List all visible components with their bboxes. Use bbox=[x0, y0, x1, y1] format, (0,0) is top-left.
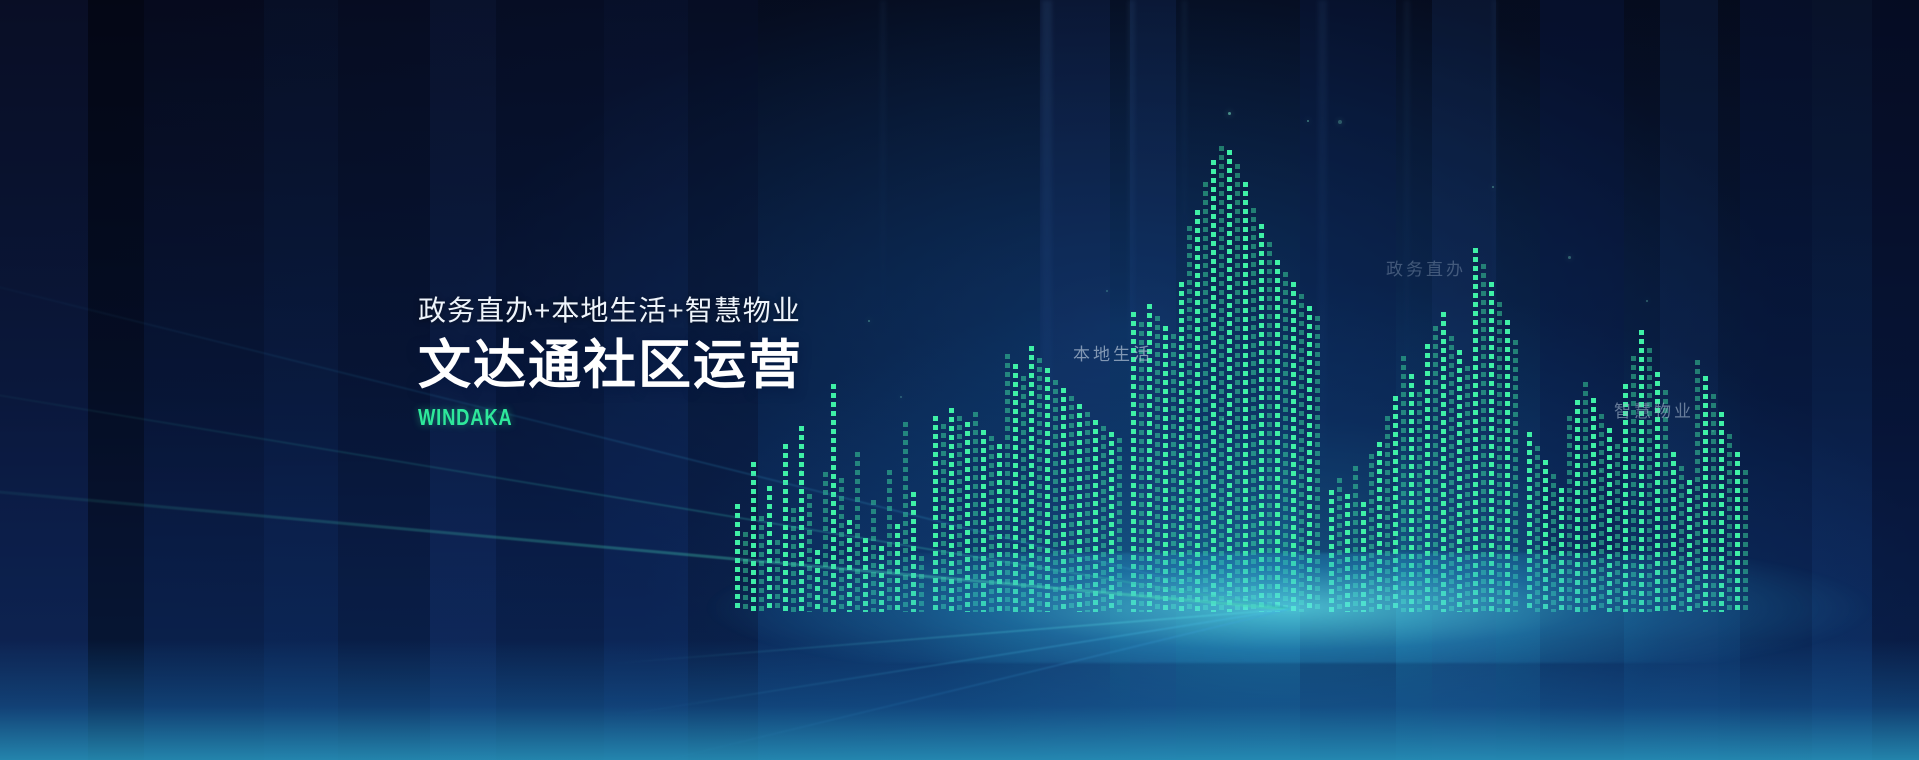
skyline-column bbox=[1109, 432, 1114, 612]
skyline-column bbox=[1527, 432, 1532, 612]
skyline-column bbox=[1235, 164, 1240, 612]
skyline-column bbox=[1337, 478, 1342, 612]
skyline-column bbox=[1307, 306, 1312, 612]
stripe-band bbox=[1872, 0, 1919, 760]
sparkle-dot bbox=[1106, 290, 1108, 292]
light-pillar bbox=[1128, 0, 1135, 470]
stripe-band bbox=[1432, 0, 1496, 760]
skyline-column bbox=[1703, 376, 1708, 612]
skyline-column bbox=[1497, 302, 1502, 612]
skyline-column bbox=[1735, 452, 1740, 612]
skyline-column bbox=[997, 444, 1002, 612]
skyline-column bbox=[1489, 282, 1494, 612]
skyline-column bbox=[1567, 416, 1572, 612]
skyline-column bbox=[1639, 330, 1644, 612]
skyline-column bbox=[815, 550, 820, 612]
horizon-glow bbox=[0, 553, 1919, 663]
skyline-column bbox=[823, 472, 828, 612]
skyline-column bbox=[981, 430, 986, 612]
skyline-column bbox=[1719, 412, 1724, 612]
skyline-column bbox=[839, 478, 844, 612]
skyline-column bbox=[1219, 146, 1224, 612]
skyline-column bbox=[1631, 356, 1636, 612]
skyline-column bbox=[847, 520, 852, 612]
skyline-column bbox=[1061, 388, 1066, 612]
skyline-column bbox=[957, 416, 962, 612]
stripe-band bbox=[338, 0, 430, 760]
perspective-ground bbox=[0, 560, 1919, 760]
skyline-column bbox=[1425, 344, 1430, 612]
skyline-column bbox=[933, 416, 938, 612]
skyline-column bbox=[1053, 380, 1058, 612]
skyline-column bbox=[1559, 488, 1564, 612]
skyline-column bbox=[735, 504, 740, 612]
skyline-column bbox=[1299, 294, 1304, 612]
skyline-column bbox=[1727, 434, 1732, 612]
stripe-band bbox=[1540, 0, 1624, 760]
sparkle-dot bbox=[1222, 418, 1224, 420]
skyline-column bbox=[807, 494, 812, 612]
stripe-band bbox=[0, 0, 88, 760]
skyline-column bbox=[1377, 442, 1382, 612]
sparkle-dot bbox=[1568, 256, 1571, 259]
hero-banner: 政务直办本地生活智慧物业 政务直办+本地生活+智慧物业 文达通社区运营 WIND… bbox=[0, 0, 1919, 760]
skyline-column bbox=[1513, 340, 1518, 612]
skyline-column bbox=[1369, 454, 1374, 612]
skyline-column bbox=[1283, 272, 1288, 612]
hero-copy-block: 政务直办+本地生活+智慧物业 文达通社区运营 WINDAKA bbox=[418, 292, 1038, 431]
skyline-column bbox=[1155, 316, 1160, 612]
hero-title: 文达通社区运营 bbox=[418, 334, 1038, 398]
skyline-column bbox=[1505, 320, 1510, 612]
sparkle-dot bbox=[1600, 470, 1602, 472]
skyline-column bbox=[1473, 248, 1478, 612]
skyline-column bbox=[895, 524, 900, 612]
sparkle-dot bbox=[1338, 120, 1342, 124]
stripe-band bbox=[1812, 0, 1872, 760]
brand-wordmark: WINDAKA bbox=[418, 404, 914, 431]
skyline-column bbox=[973, 412, 978, 612]
ground-perspective-line bbox=[0, 472, 1290, 611]
skyline-column bbox=[887, 470, 892, 612]
skyline-column bbox=[1481, 264, 1486, 612]
skyline-column bbox=[1315, 316, 1320, 612]
stripe-band bbox=[1300, 0, 1396, 760]
skyline-column bbox=[1101, 426, 1106, 612]
sparkle-dot bbox=[1294, 350, 1296, 352]
district-label: 政务直办 bbox=[1386, 255, 1466, 280]
stripe-band bbox=[88, 0, 144, 760]
skyline-column bbox=[1543, 460, 1548, 612]
skyline-column bbox=[1385, 416, 1390, 612]
light-pillar bbox=[1404, 0, 1410, 430]
skyline-column bbox=[989, 436, 994, 612]
ground-perspective-line bbox=[618, 608, 1290, 716]
sparkle-dot bbox=[800, 470, 802, 472]
skyline-column bbox=[775, 540, 780, 612]
skyline-column bbox=[949, 408, 954, 612]
skyline-column bbox=[1211, 160, 1216, 612]
skyline-column bbox=[1195, 210, 1200, 612]
ground-perspective-line bbox=[629, 608, 1290, 760]
sparkle-dot bbox=[1492, 186, 1494, 188]
skyline-column bbox=[1457, 350, 1462, 612]
skyline-column bbox=[1417, 392, 1422, 612]
skyline-column bbox=[1187, 226, 1192, 612]
skyline-column bbox=[1093, 420, 1098, 612]
light-pillar bbox=[1492, 0, 1497, 380]
light-pillar bbox=[1318, 0, 1327, 520]
skyline-column bbox=[1361, 502, 1366, 612]
stripe-band bbox=[1740, 0, 1812, 760]
skyline-column bbox=[911, 492, 916, 612]
skyline-column bbox=[1179, 282, 1184, 612]
stripe-band bbox=[1040, 0, 1110, 760]
skyline-column bbox=[1695, 360, 1700, 612]
skyline-column bbox=[1259, 224, 1264, 612]
skyline-column bbox=[1647, 348, 1652, 612]
skyline-column bbox=[919, 556, 924, 612]
skyline-column bbox=[903, 422, 908, 612]
skyline-column bbox=[1409, 374, 1414, 612]
skyline-column bbox=[1433, 326, 1438, 612]
light-pillar bbox=[1182, 0, 1187, 300]
ground-perspective-line bbox=[612, 608, 1290, 665]
skyline-column bbox=[1275, 260, 1280, 612]
skyline-column bbox=[1251, 208, 1256, 612]
district-label: 智慧物业 bbox=[1614, 397, 1694, 422]
skyline-column bbox=[1345, 494, 1350, 612]
stripe-band bbox=[264, 0, 338, 760]
stripe-band bbox=[1130, 0, 1176, 760]
skyline-column bbox=[855, 452, 860, 612]
skyline-column bbox=[1171, 334, 1176, 612]
sparkle-dot bbox=[1307, 120, 1309, 122]
skyline-column bbox=[1117, 438, 1122, 612]
skyline-column bbox=[751, 462, 756, 612]
skyline-column bbox=[1663, 390, 1668, 612]
skyline-column bbox=[1591, 398, 1596, 612]
skyline-column bbox=[1203, 182, 1208, 612]
skyline-column bbox=[1449, 336, 1454, 612]
skyline-column bbox=[1711, 394, 1716, 612]
skyline-column bbox=[767, 486, 772, 612]
skyline-column bbox=[1243, 182, 1248, 612]
stripe-band bbox=[144, 0, 264, 760]
skyline-column bbox=[1679, 466, 1684, 612]
skyline-column bbox=[1671, 452, 1676, 612]
skyline-column bbox=[1401, 356, 1406, 612]
skyline-column bbox=[1583, 382, 1588, 612]
hero-subtitle: 政务直办+本地生活+智慧物业 bbox=[418, 292, 1038, 330]
skyline-column bbox=[1393, 396, 1398, 612]
skyline-column bbox=[1329, 490, 1334, 612]
skyline-column bbox=[1535, 446, 1540, 612]
skyline-column bbox=[1441, 312, 1446, 612]
sparkle-dot bbox=[1646, 300, 1648, 302]
skyline-column bbox=[1615, 444, 1620, 612]
sparkle-dot bbox=[1228, 112, 1231, 115]
skyline-column bbox=[1465, 366, 1470, 612]
skyline-column bbox=[1743, 470, 1748, 612]
skyline-column bbox=[941, 424, 946, 612]
sparkle-dot bbox=[1712, 430, 1714, 432]
skyline-column bbox=[759, 516, 764, 612]
skyline-column bbox=[1687, 480, 1692, 612]
skyline-column bbox=[1291, 282, 1296, 612]
skyline-base-fade bbox=[0, 640, 1919, 760]
skyline-column bbox=[1077, 404, 1082, 612]
skyline-column bbox=[1163, 326, 1168, 612]
skyline-column bbox=[783, 444, 788, 612]
skyline-column bbox=[743, 532, 748, 612]
skyline-column bbox=[1599, 414, 1604, 612]
skyline-column bbox=[1607, 428, 1612, 612]
skyline-column bbox=[791, 508, 796, 612]
stripe-band bbox=[1660, 0, 1718, 760]
skyline-column bbox=[1353, 466, 1358, 612]
skyline-column bbox=[1045, 368, 1050, 612]
skyline-column bbox=[1551, 474, 1556, 612]
skyline-column bbox=[879, 546, 884, 612]
skyline-column bbox=[1085, 412, 1090, 612]
skyline-column bbox=[1069, 396, 1074, 612]
skyline-column bbox=[799, 426, 804, 612]
skyline-column bbox=[1227, 150, 1232, 612]
skyline-column bbox=[871, 500, 876, 612]
skyline-column bbox=[863, 538, 868, 612]
skyline-column bbox=[1575, 400, 1580, 612]
skyline-column bbox=[1139, 322, 1144, 612]
light-pillar bbox=[1042, 0, 1052, 540]
skyline-column bbox=[965, 422, 970, 612]
district-label: 本地生活 bbox=[1073, 340, 1153, 365]
skyline-column bbox=[1267, 242, 1272, 612]
